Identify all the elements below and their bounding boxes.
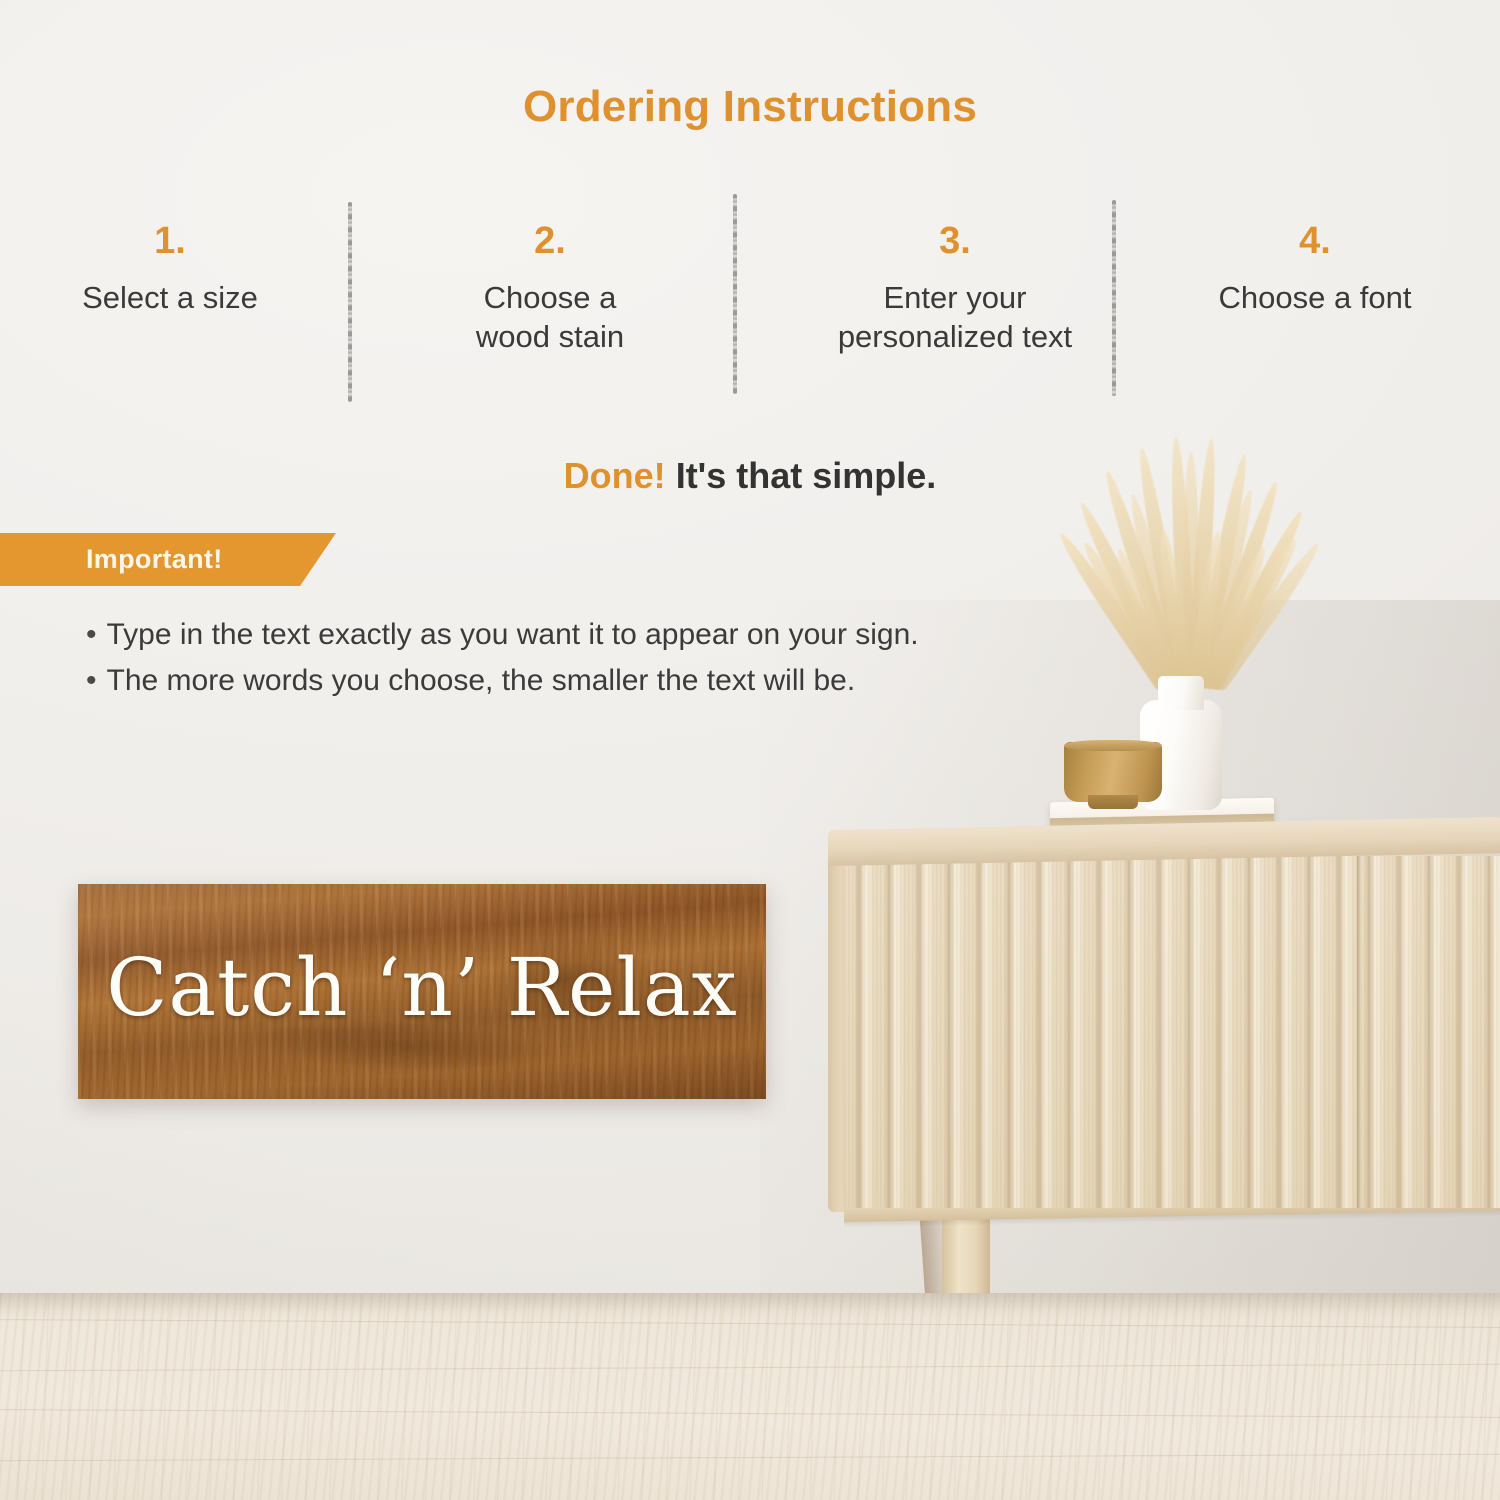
- important-notes-list: •Type in the text exactly as you want it…: [86, 612, 1186, 703]
- important-ribbon: Important!: [0, 533, 336, 586]
- fluted-wood-sideboard: [828, 812, 1500, 1297]
- step-divider-1: [348, 202, 352, 402]
- product-infographic: Ordering Instructions 1. Select a size 2…: [0, 0, 1500, 1500]
- wood-floor: [0, 1293, 1500, 1500]
- step-4: 4. Choose a font: [1165, 222, 1465, 317]
- mustard-wood-bowl: [1064, 742, 1162, 802]
- bullet-marker: •: [86, 664, 97, 697]
- list-item: •Type in the text exactly as you want it…: [86, 612, 1186, 658]
- step-4-number: 4.: [1165, 222, 1465, 260]
- list-item: •The more words you choose, the smaller …: [86, 658, 1186, 704]
- step-2-number: 2.: [400, 222, 700, 260]
- wooden-sign-product: Catch ‘n’ Relax: [78, 884, 766, 1099]
- floor-contact-shadow: [0, 1293, 1500, 1319]
- step-2-label: Choose awood stain: [400, 278, 700, 357]
- done-rest: It's that simple.: [676, 455, 937, 496]
- step-3-label: Enter yourpersonalized text: [780, 278, 1130, 357]
- page-title: Ordering Instructions: [0, 82, 1500, 132]
- important-label: Important!: [86, 544, 222, 575]
- floor-plank-seam: [0, 1409, 1500, 1418]
- floor-plank-seam: [0, 1454, 1500, 1462]
- step-divider-2: [733, 194, 737, 394]
- bowl-rim: [1064, 740, 1162, 751]
- step-3-number: 3.: [780, 222, 1130, 260]
- bullet-marker: •: [86, 618, 97, 651]
- sideboard-door-seam: [1357, 856, 1360, 1208]
- sign-engraved-text: Catch ‘n’ Relax: [78, 884, 766, 1099]
- bowl-foot: [1088, 795, 1138, 809]
- sideboard-body: [844, 856, 1500, 1208]
- floor-plank-seam: [0, 1364, 1500, 1372]
- step-1-number: 1.: [20, 222, 320, 260]
- done-accent: Done!: [564, 455, 666, 496]
- step-2: 2. Choose awood stain: [400, 222, 700, 357]
- step-divider-3: [1112, 200, 1116, 396]
- done-line: Done! It's that simple.: [0, 455, 1500, 497]
- step-1: 1. Select a size: [20, 222, 320, 317]
- step-3: 3. Enter yourpersonalized text: [780, 222, 1130, 357]
- floor-plank-seam: [0, 1319, 1500, 1328]
- steps-row: 1. Select a size 2. Choose awood stain 3…: [0, 222, 1500, 412]
- bullet-text-2: The more words you choose, the smaller t…: [107, 664, 856, 697]
- sideboard-grain: [844, 856, 1500, 1208]
- step-1-label: Select a size: [20, 278, 320, 317]
- bullet-text-1: Type in the text exactly as you want it …: [107, 618, 919, 651]
- step-4-label: Choose a font: [1165, 278, 1465, 317]
